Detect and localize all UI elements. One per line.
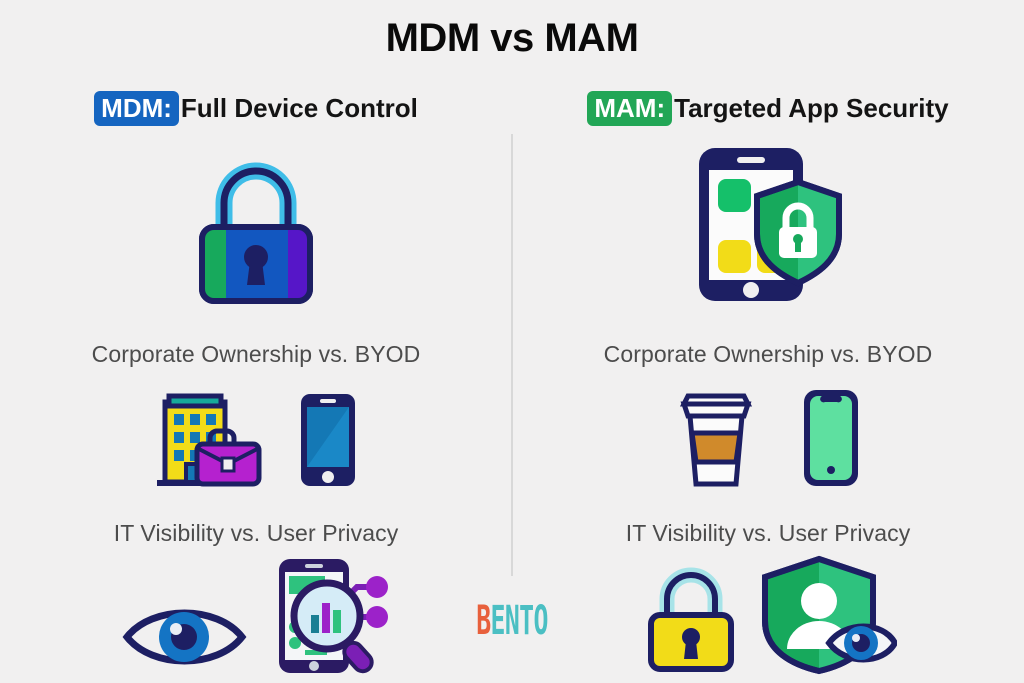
column-mam-heading: MAM:Targeted App Security (512, 86, 1024, 126)
mam-hero-art (512, 142, 1024, 307)
phone-with-shield-lock-icon (693, 142, 843, 307)
mdm-section-1-label: Corporate Ownership vs. BYOD (0, 341, 512, 368)
bento-logo: BENTO (195, 598, 830, 644)
mam-section-1-art (512, 380, 1024, 490)
page-title: MDM vs MAM (0, 16, 1024, 61)
mam-section-1-label: Corporate Ownership vs. BYOD (512, 341, 1024, 368)
mam-section-2-label: IT Visibility vs. User Privacy (512, 520, 1024, 547)
mdm-hero-art (0, 142, 512, 307)
badge-mam: MAM: (587, 91, 672, 126)
mdm-section-1-art (0, 380, 512, 490)
column-mdm-heading: MDM:Full Device Control (0, 86, 512, 126)
column-mdm-heading-text: Full Device Control (181, 93, 418, 123)
padlock-icon (186, 157, 326, 307)
column-mdm: MDM:Full Device Control Corporate Owners… (0, 86, 512, 676)
column-mam-heading-text: Targeted App Security (674, 93, 949, 123)
bento-logo-first-letter: B (476, 598, 490, 644)
badge-mdm: MDM: (94, 91, 179, 126)
eye-icon (829, 626, 895, 660)
mdm-section-2-label: IT Visibility vs. User Privacy (0, 520, 512, 547)
smartphone-green-icon (800, 386, 862, 490)
column-mam: MAM:Targeted App Security Cor (512, 86, 1024, 676)
smartphone-blue-icon (297, 390, 359, 490)
bento-logo-rest: ENTO (491, 598, 548, 644)
office-building-icon (153, 390, 265, 490)
coffee-cup-icon (674, 386, 758, 490)
infographic-canvas: MDM vs MAM MDM:Full Device Control Corpo… (0, 0, 1024, 683)
